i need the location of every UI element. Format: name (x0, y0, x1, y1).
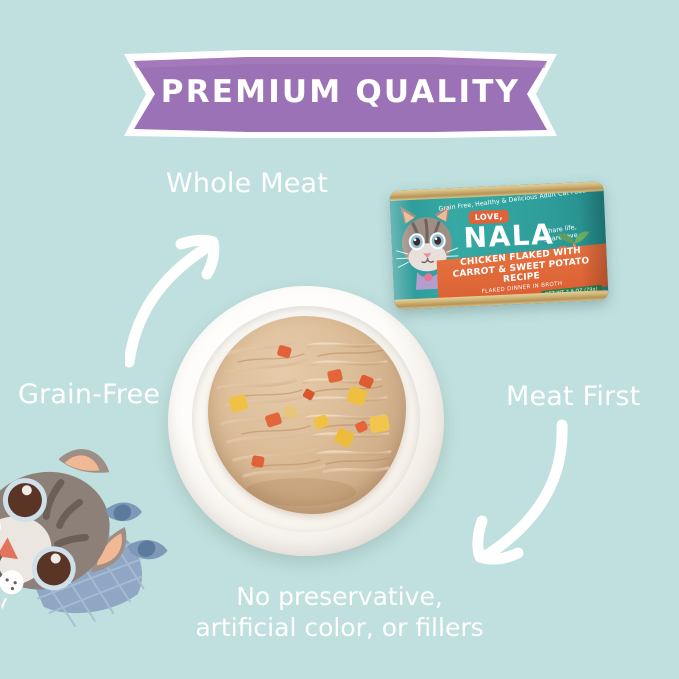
no-additives-line-1: No preservative, (236, 582, 443, 611)
can-body: Grain Free, Healthy & Delicious Adult Ca… (389, 181, 608, 310)
banner-ribbon-shape (118, 46, 563, 142)
can-trademark: ™ (532, 242, 538, 248)
curved-arrow-down-left-icon (438, 415, 568, 580)
premium-quality-banner: PREMIUM QUALITY (118, 46, 563, 142)
can-brand-name: NALA (463, 220, 555, 254)
bowl-of-food (168, 286, 444, 556)
label-meat-first: Meat First (506, 381, 640, 412)
product-can[interactable]: Grain Free, Healthy & Delicious Adult Ca… (389, 181, 608, 310)
label-whole-meat: Whole Meat (166, 168, 328, 199)
infographic-canvas: PREMIUM QUALITY Whole Meat Grain-Free Me… (0, 0, 679, 679)
